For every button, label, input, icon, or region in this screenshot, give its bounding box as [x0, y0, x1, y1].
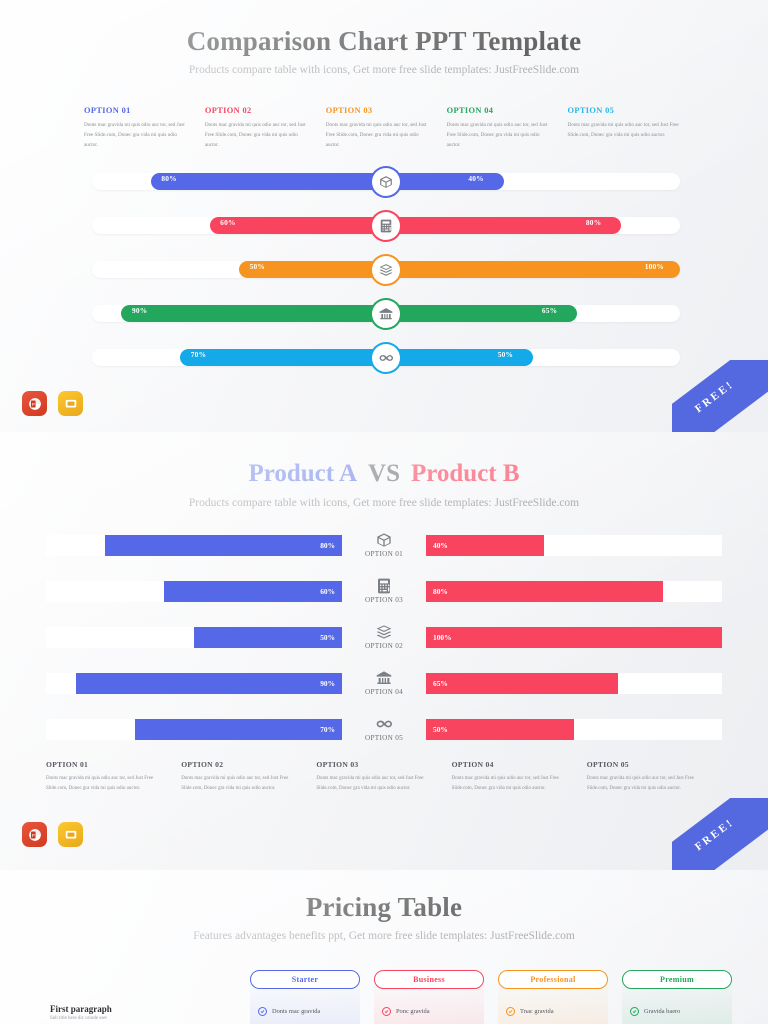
- bar-fill-left: [210, 217, 386, 234]
- option-label: OPTION 02: [365, 642, 403, 650]
- bar-fill-left: [76, 673, 342, 694]
- product-a-bar: 60%: [46, 581, 342, 602]
- option-label: OPTION 05: [587, 760, 706, 769]
- bar-knob[interactable]: [372, 344, 400, 372]
- first-paragraph-block: First paragraph Sub title here dic oriod…: [50, 1004, 112, 1021]
- option-description: Donts mac gravida mi quis odio auc tor, …: [205, 120, 312, 150]
- check-icon: [258, 1007, 267, 1016]
- comparison-row[interactable]: 90%OPTION 0465%: [46, 671, 722, 695]
- bar-fill-left: [135, 719, 342, 740]
- format-badges: P: [22, 391, 83, 416]
- bar-knob[interactable]: [372, 168, 400, 196]
- option-description: Donts mac gravida mi quis odio auc tor, …: [452, 774, 571, 794]
- pricing-card[interactable]: ProfessionalTnac gravida: [498, 966, 608, 1024]
- pricing-feature: Ponc gravida: [374, 1007, 484, 1016]
- calculator-icon: [376, 578, 392, 594]
- option-description: Donts mac gravida mi quis odio auc tor, …: [326, 120, 433, 150]
- pricing-feature-label: Ponc gravida: [396, 1008, 430, 1015]
- calculator-icon: [379, 219, 393, 233]
- bar-value-right: 100%: [645, 262, 664, 271]
- option-label: OPTION 04: [447, 106, 554, 115]
- page-title: Comparison Chart PPT Template: [0, 26, 768, 57]
- keynote-icon[interactable]: [58, 391, 83, 416]
- split-bar-row[interactable]: 90%65%: [92, 302, 680, 324]
- product-a-bar: 90%: [46, 673, 342, 694]
- bar-value-left: 70%: [191, 350, 206, 359]
- svg-text:P: P: [31, 401, 34, 406]
- bar-value-left: 60%: [220, 218, 235, 227]
- keynote-icon-2[interactable]: [58, 822, 83, 847]
- option-label: OPTION 04: [452, 760, 571, 769]
- bar-value-left: 50%: [320, 633, 335, 642]
- vs-subtitle: Products compare table with icons, Get m…: [0, 497, 768, 509]
- option-description: Donts mac gravida mi quis odio auc tor, …: [84, 120, 191, 150]
- bar-value-left: 80%: [161, 174, 176, 183]
- bar-fill-left: [180, 349, 386, 366]
- product-b-bar: 65%: [426, 673, 722, 694]
- option-label: OPTION 04: [365, 688, 403, 696]
- box-icon: [379, 175, 393, 189]
- option-label: OPTION 01: [46, 760, 165, 769]
- pricing-card-title: Starter: [250, 970, 360, 989]
- bar-value-left: 80%: [320, 541, 335, 550]
- first-paragraph-sub: Sub title here dic oriode sset: [50, 1016, 112, 1021]
- product-b-bar: 50%: [426, 719, 722, 740]
- bar-fill-left: [151, 173, 386, 190]
- slide-comparison-chart: Comparison Chart PPT Template Products c…: [0, 0, 768, 432]
- bar-value-left: 90%: [320, 679, 335, 688]
- pricing-feature: Donts mac gravida: [250, 1007, 360, 1016]
- description-column: OPTION 05Donts mac gravida mi quis odio …: [587, 760, 722, 794]
- option-column: OPTION 01Donts mac gravida mi quis odio …: [84, 106, 205, 150]
- vs-label: VS: [368, 460, 400, 487]
- option-label: OPTION 01: [84, 106, 191, 115]
- comparison-bar-list: 80%OPTION 0140%60%OPTION 0380%50%OPTION …: [46, 533, 722, 763]
- product-a-bar: 50%: [46, 627, 342, 648]
- pricing-subtitle: Features advantages benefits ppt, Get mo…: [0, 930, 768, 942]
- slide-deck-preview: Comparison Chart PPT Template Products c…: [0, 0, 768, 1024]
- bar-value-right: 50%: [498, 350, 513, 359]
- bar-knob[interactable]: [372, 212, 400, 240]
- description-column: OPTION 01Donts mac gravida mi quis odio …: [46, 760, 181, 794]
- option-column: OPTION 03Donts mac gravida mi quis odio …: [326, 106, 447, 150]
- product-b-bar: 80%: [426, 581, 722, 602]
- bar-value-right: 65%: [433, 679, 448, 688]
- bar-value-left: 60%: [320, 587, 335, 596]
- description-column: OPTION 02Donts mac gravida mi quis odio …: [181, 760, 316, 794]
- bar-value-left: 70%: [320, 725, 335, 734]
- option-label: OPTION 03: [326, 106, 433, 115]
- option-column: OPTION 05Donts mac gravida mi quis odio …: [568, 106, 689, 150]
- vs-title: Product AVSProduct B: [0, 432, 768, 488]
- product-b-label: Product B: [411, 460, 520, 487]
- pricing-card-title: Premium: [622, 970, 732, 989]
- free-ribbon: FREE!: [672, 360, 768, 432]
- first-paragraph-heading: First paragraph: [50, 1004, 112, 1014]
- layers-icon: [379, 263, 393, 277]
- check-icon: [506, 1007, 515, 1016]
- description-column: OPTION 03Donts mac gravida mi quis odio …: [316, 760, 451, 794]
- bar-value-right: 100%: [433, 633, 451, 642]
- comparison-row[interactable]: 50%OPTION 02100%: [46, 625, 722, 649]
- option-label: OPTION 02: [181, 760, 300, 769]
- product-a-label: Product A: [248, 460, 357, 487]
- comparison-row[interactable]: 60%OPTION 0380%: [46, 579, 722, 603]
- split-bar-row[interactable]: 70%50%: [92, 346, 680, 368]
- split-bar-chart: 80%40%60%80%50%100%90%65%70%50%: [92, 170, 680, 390]
- check-icon: [382, 1007, 391, 1016]
- check-icon: [630, 1007, 639, 1016]
- bar-value-right: 80%: [586, 218, 601, 227]
- row-icon-label: OPTION 01: [342, 532, 426, 558]
- infinity-icon: [376, 716, 392, 732]
- description-column: OPTION 04Donts mac gravida mi quis odio …: [452, 760, 587, 794]
- pricing-card-title: Professional: [498, 970, 608, 989]
- option-description: Donts mac gravida mi quis odio auc tor, …: [587, 774, 706, 794]
- option-label: OPTION 03: [365, 596, 403, 604]
- option-label: OPTION 03: [316, 760, 435, 769]
- option-label: OPTION 01: [365, 550, 403, 558]
- bar-value-left: 50%: [250, 262, 265, 271]
- pricing-card[interactable]: StarterDonts mac gravida: [250, 966, 360, 1024]
- option-header-row: OPTION 01Donts mac gravida mi quis odio …: [84, 106, 688, 150]
- layers-icon: [376, 624, 392, 640]
- bar-knob[interactable]: [372, 256, 400, 284]
- option-label: OPTION 05: [568, 106, 689, 115]
- split-bar-row[interactable]: 50%100%: [92, 258, 680, 280]
- format-badges-2: P: [22, 822, 83, 847]
- row-icon-label: OPTION 05: [342, 716, 426, 742]
- page-subtitle: Products compare table with icons, Get m…: [0, 64, 768, 76]
- pricing-title: Pricing Table: [0, 892, 768, 923]
- bar-knob[interactable]: [372, 300, 400, 328]
- bank-icon: [379, 307, 393, 321]
- box-icon: [376, 532, 392, 548]
- comparison-row[interactable]: 70%OPTION 0550%: [46, 717, 722, 741]
- pricing-card[interactable]: PremiumGravida baero: [622, 966, 732, 1024]
- option-column: OPTION 04Donts mac gravida mi quis odio …: [447, 106, 568, 150]
- free-ribbon-label-2: FREE!: [672, 798, 768, 870]
- bar-fill-right: [426, 719, 574, 740]
- bar-fill-right: [426, 627, 722, 648]
- bar-fill-left: [121, 305, 386, 322]
- bar-fill-right: [426, 673, 618, 694]
- bar-value-right: 80%: [433, 587, 448, 596]
- option-description: Donts mac gravida mi quis odio auc tor, …: [181, 774, 300, 794]
- bar-fill-left: [105, 535, 342, 556]
- bar-value-right: 65%: [542, 306, 557, 315]
- bar-value-left: 90%: [132, 306, 147, 315]
- bar-fill-left: [164, 581, 342, 602]
- product-a-bar: 70%: [46, 719, 342, 740]
- comparison-row[interactable]: 80%OPTION 0140%: [46, 533, 722, 557]
- powerpoint-icon[interactable]: P: [22, 391, 47, 416]
- row-icon-label: OPTION 04: [342, 670, 426, 696]
- option-description: Donts mac gravida mi quis odio auc tor, …: [568, 120, 689, 140]
- pricing-feature-label: Donts mac gravida: [272, 1008, 320, 1015]
- svg-text:P: P: [31, 832, 34, 837]
- bar-value-right: 50%: [433, 725, 448, 734]
- product-a-bar: 80%: [46, 535, 342, 556]
- pricing-feature: Tnac gravida: [498, 1007, 608, 1016]
- bar-value-right: 40%: [433, 541, 448, 550]
- row-icon-label: OPTION 02: [342, 624, 426, 650]
- option-description: Donts mac gravida mi quis odio auc tor, …: [447, 120, 554, 150]
- bar-fill-right: [426, 581, 663, 602]
- free-ribbon-label: FREE!: [672, 360, 768, 432]
- bar-fill-right: [386, 261, 680, 278]
- free-ribbon-2: FREE!: [672, 798, 768, 870]
- bank-icon: [376, 670, 392, 686]
- split-bar-row[interactable]: 60%80%: [92, 214, 680, 236]
- split-bar-row[interactable]: 80%40%: [92, 170, 680, 192]
- pricing-feature-label: Gravida baero: [644, 1008, 680, 1015]
- bar-value-right: 40%: [468, 174, 483, 183]
- option-label: OPTION 02: [205, 106, 312, 115]
- infinity-icon: [379, 351, 393, 365]
- product-b-bar: 100%: [426, 627, 722, 648]
- option-description: Donts mac gravida mi quis odio auc tor, …: [316, 774, 435, 794]
- pricing-card-row: StarterDonts mac gravidaBusinessPonc gra…: [250, 966, 732, 1024]
- product-b-bar: 40%: [426, 535, 722, 556]
- option-description: Donts mac gravida mi quis odio auc tor, …: [46, 774, 165, 794]
- option-label: OPTION 05: [365, 734, 403, 742]
- pricing-feature-label: Tnac gravida: [520, 1008, 554, 1015]
- pricing-feature: Gravida baero: [622, 1007, 732, 1016]
- row-icon-label: OPTION 03: [342, 578, 426, 604]
- option-description-row: OPTION 01Donts mac gravida mi quis odio …: [46, 760, 722, 794]
- option-column: OPTION 02Donts mac gravida mi quis odio …: [205, 106, 326, 150]
- pricing-card-title: Business: [374, 970, 484, 989]
- bar-fill-right: [386, 173, 504, 190]
- powerpoint-icon-2[interactable]: P: [22, 822, 47, 847]
- pricing-card[interactable]: BusinessPonc gravida: [374, 966, 484, 1024]
